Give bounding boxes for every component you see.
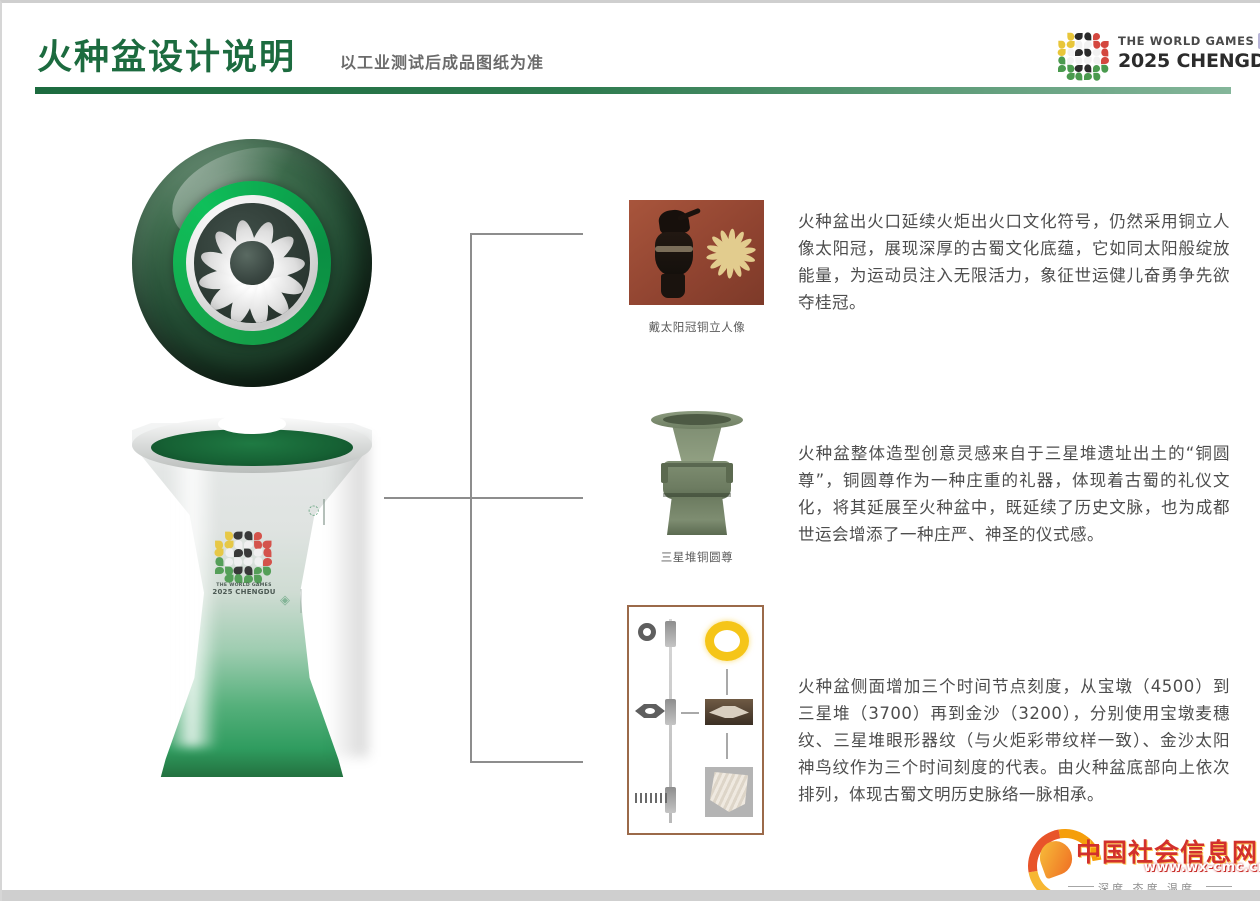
emblem-cell [1067,57,1075,64]
sanxingdui-eye-artifact-photo [705,699,753,725]
emblem-cell [1067,49,1074,57]
wheat-shard-shape [710,772,748,812]
emblem-cell [1084,41,1092,48]
emblem-cell [234,532,243,540]
page-subtitle: 以工业测试后成品图纸为准 [340,49,544,73]
cauldron-emblem-icon [215,532,273,584]
reference-diagram-timeline [627,605,764,835]
figure-body [655,232,693,276]
emblem-cell [1075,33,1083,40]
emblem-cell [1075,49,1083,56]
emblem-cell [1101,57,1109,64]
emblem-cell [1076,41,1083,49]
baodun-wheat-shard-photo [705,767,753,817]
emblem-cell [244,575,253,583]
cauldron-rim-inner [151,429,353,466]
zun-band-lower [663,493,731,497]
emblem-cell [1058,57,1065,65]
emblem-cell [1067,65,1074,73]
emblem-cell [244,541,253,549]
reference-caption-2: 三星堆铜圆尊 [602,549,792,565]
emblem-cell [263,558,272,566]
motif-glyph-wheat-icon [635,793,667,803]
timeline-connector-upper [726,669,728,695]
emblem-cell [1084,49,1091,57]
emblem-cell [235,540,243,549]
emblem-cell [263,541,272,549]
figure-base [661,274,685,298]
emblem-cell [254,532,263,540]
timeline-node-middle [665,699,676,725]
reference-text-2: 火种盆整体造型创意灵感来自于三星堆遗址出土的“铜圆尊”，铜圆尊作为一种庄重的礼器… [798,440,1230,548]
emblem-cell [1076,57,1083,65]
world-games-emblem-icon [1058,33,1110,81]
emblem-cell [1084,65,1091,73]
emblem-cell [1101,41,1109,48]
bracket-branch-middle [384,497,583,499]
timeline-tick-top [323,499,325,525]
emblem-cell [234,549,243,557]
world-games-logo: THE WORLD GAMES IWGA 2025 CHENGDU [1058,31,1238,83]
emblem-cell [1102,65,1109,73]
emblem-cell [264,549,272,558]
reference-text-1: 火种盆出火口延续火炬出火口文化符号，仍然采用铜立人像太阳冠，展现深厚的古蜀文化底… [798,208,1230,316]
emblem-cell [1067,41,1075,48]
cauldron-rim [132,417,372,473]
emblem-cell [244,558,253,566]
emblem-cell [1093,41,1100,49]
timeline-marker-sunbird-icon: ◌ [308,503,319,518]
cauldron-rim-notch [218,414,285,434]
bracket-branch-bottom [470,761,583,763]
emblem-cell [1084,33,1091,41]
emblem-cell [1102,49,1109,57]
timeline-link-middle [681,712,699,714]
emblem-cell [225,566,233,575]
motif-glyph-sunbird-icon [638,623,656,641]
bracket-connector [397,233,597,763]
emblem-cell [254,549,263,557]
emblem-cell [225,575,234,583]
figure-collar [655,246,693,252]
cauldron-emblem-text: THE WORLD GAMES 2025 CHENGDU [206,583,282,595]
watermark-rule-left [1068,886,1094,887]
emblem-cell [235,558,243,567]
page-bottom-band [2,890,1260,901]
zun-foot [667,497,727,535]
site-watermark: 中国社会信息网 www.wx-cmc.cn 深度 态度 温度 [1028,825,1248,897]
timeline-marker-eye-icon: ◈ [280,593,290,608]
cauldron-top-view [132,139,372,387]
emblem-cell [1058,65,1066,72]
cauldron-center-hub [230,241,273,286]
zun-flange-left [661,463,668,483]
world-games-title: THE WORLD GAMES [1118,34,1254,48]
reference-caption-1: 戴太阳冠铜立人像 [602,319,792,335]
emblem-cell [1093,49,1101,56]
emblem-cell [254,567,263,575]
emblem-cell [1093,65,1101,72]
emblem-cell [1084,73,1092,80]
motif-glyph-eye-pupil [645,708,655,714]
emblem-cell [1093,33,1101,40]
reference-photo-bronze-figure [629,200,764,305]
emblem-cell [225,532,233,541]
emblem-cell [244,566,252,575]
reference-photo-bronze-zun [647,407,747,540]
emblem-cell [264,566,272,575]
bronze-standing-figure-icon [647,210,701,298]
emblem-cell [215,558,223,567]
reference-text-3: 火种盆侧面增加三个时间节点刻度，从宝墩（4500）到三星堆（3700）再到金沙（… [798,673,1230,808]
emblem-cell [1093,57,1100,65]
page-title: 火种盆设计说明 [37,29,296,80]
cauldron-vessel-silhouette [132,423,372,777]
emblem-cell [225,549,233,558]
zun-band-upper [663,463,731,467]
emblem-cell [254,540,262,549]
world-games-title-line: THE WORLD GAMES IWGA [1118,33,1238,49]
timeline-node-top [665,621,676,647]
emblem-cell [225,558,234,566]
emblem-cell [1058,41,1065,49]
bracket-branch-top [470,233,583,235]
cauldron-emblem-line2: 2025 CHENGDU [206,589,282,595]
design-description-page: 火种盆设计说明 以工业测试后成品图纸为准 THE WORLD GAMES IWG… [0,0,1260,901]
timeline-tick-mid [300,589,302,613]
header-divider [35,87,1231,94]
emblem-cell [215,567,224,575]
zun-flange-right [726,463,733,483]
eye-artifact-shape [709,706,749,718]
world-games-year-host: 2025 CHENGDU [1118,50,1238,72]
emblem-cell [1067,73,1075,80]
emblem-cell [225,541,234,549]
cauldron-body-view: THE WORLD GAMES 2025 CHENGDU ◌ ◈ [120,407,384,777]
emblem-cell [215,540,223,549]
emblem-cell [244,549,252,558]
emblem-cell [244,532,252,541]
emblem-cell [254,558,262,567]
jinsha-sunbird-photo [705,621,749,661]
emblem-cell [1093,73,1100,81]
watermark-url: www.wx-cmc.cn [1144,860,1260,875]
emblem-cell [1076,73,1083,81]
page-header: 火种盆设计说明 以工业测试后成品图纸为准 THE WORLD GAMES IWG… [2,3,1260,103]
world-games-logo-text: THE WORLD GAMES IWGA 2025 CHENGDU [1118,33,1238,72]
emblem-cell [1075,65,1083,72]
golden-sun-crown-icon [703,222,759,278]
zun-rim-inner [663,414,731,425]
emblem-cell [215,549,224,557]
timeline-connector-lower [726,733,728,759]
emblem-cell [234,567,243,575]
emblem-cell [1084,57,1092,64]
watermark-rule-right [1206,886,1232,887]
emblem-cell [1058,49,1066,56]
emblem-cell [1067,33,1074,41]
